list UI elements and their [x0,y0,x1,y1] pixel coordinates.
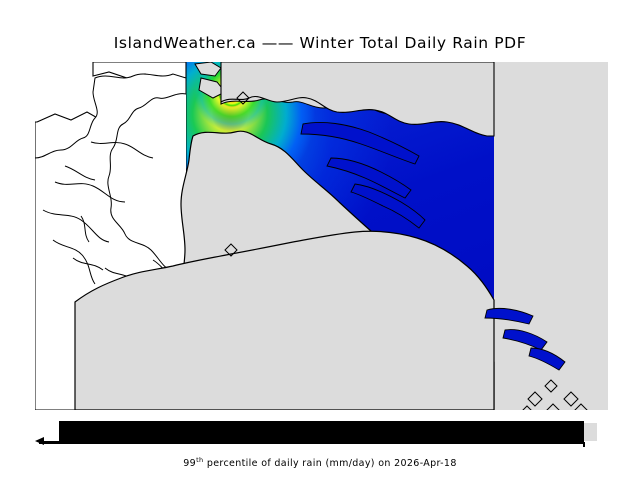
figure-title: IslandWeather.ca —— Winter Total Daily R… [0,34,640,52]
colorbar-axis-line [39,441,584,444]
colorbar-over-swatch [584,423,597,441]
caption-percentile-number: 99 [183,458,196,469]
caption-description: percentile of daily rain (mm/day) on 202… [203,458,456,469]
colorbar-end-tick [583,442,585,447]
colorbar[interactable] [35,421,608,445]
colorbar-left-arrow-icon [35,437,44,445]
coastline-overlay [35,62,608,410]
colorbar-gradient[interactable] [59,421,584,441]
map-panel[interactable] [35,62,608,410]
colorbar-caption: 99th percentile of daily rain (mm/day) o… [0,456,640,469]
